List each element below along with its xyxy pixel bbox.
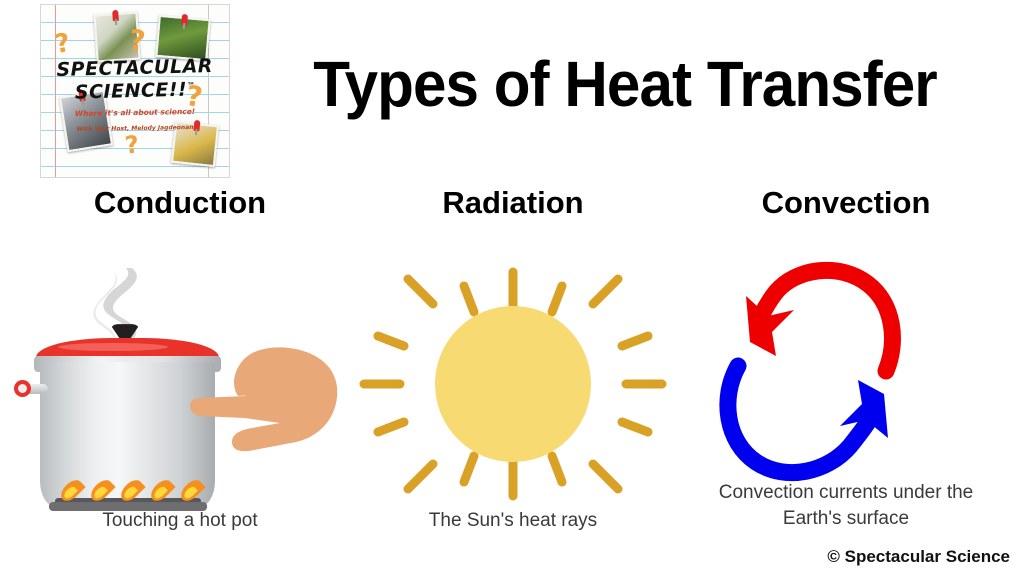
sun-ray-ssw [464,456,474,482]
conduction-illustration [10,220,350,500]
page-title: Types of Heat Transfer [263,52,987,116]
pushpin-icon [112,10,119,21]
heading-convection: Convection [676,186,1016,220]
caption-convection-line2: Earth's surface [783,508,909,529]
pot-scene [10,266,350,526]
heading-radiation: Radiation [352,186,674,220]
column-conduction: Conduction Touching a hot po [10,186,350,500]
logo-title: SPECTACULAR SCIENCE!!™ [40,55,229,106]
caption-convection-line1: Convection currents under the [719,482,974,503]
sun-icon [352,264,674,504]
logo-title-line1: SPECTACULAR [56,55,213,81]
sun-ray-sw [408,464,433,489]
logo-trademark: ™ [187,81,196,90]
copyright-notice: © Spectacular Science [827,547,1010,567]
sun-ray-nnw [464,286,474,312]
question-mark-icon-2: ? [128,26,147,56]
pot-handle-ring [14,380,31,397]
question-mark-icon-4: ? [124,132,140,157]
heading-conduction: Conduction [10,186,350,220]
sun-ray-se [593,464,618,489]
pointing-hand-icon [188,346,340,461]
sun-ray-wnw [378,336,404,346]
convection-illustration [676,220,1016,500]
caption-radiation: The Sun's heat rays [352,508,674,534]
convection-arrows-scene [676,246,1016,496]
sun-ray-wsw [378,422,404,432]
sun-scene [352,264,674,514]
column-convection: Convection Convection currents under the… [676,186,1016,500]
sun-ray-nne [552,286,562,312]
pushpin-icon [181,14,188,25]
column-radiation: Radiation [352,186,674,500]
convection-current-arrows [676,246,1016,496]
radiation-illustration [352,220,674,500]
sun-ray-ne [593,279,618,304]
sun-ray-sse [552,456,562,482]
sun-ray-ese [622,422,648,432]
sun-disc [435,306,591,462]
caption-conduction: Touching a hot pot [10,508,350,534]
logo-title-line2: SCIENCE!! [75,79,188,104]
spectacular-science-logo: ? ? ? ? SPECTACULAR SCIENCE!!™ Where it'… [40,4,230,178]
sun-ray-ene [622,336,648,346]
caption-convection: Convection currents under the Earth's su… [676,480,1016,531]
sun-ray-nw [408,279,433,304]
